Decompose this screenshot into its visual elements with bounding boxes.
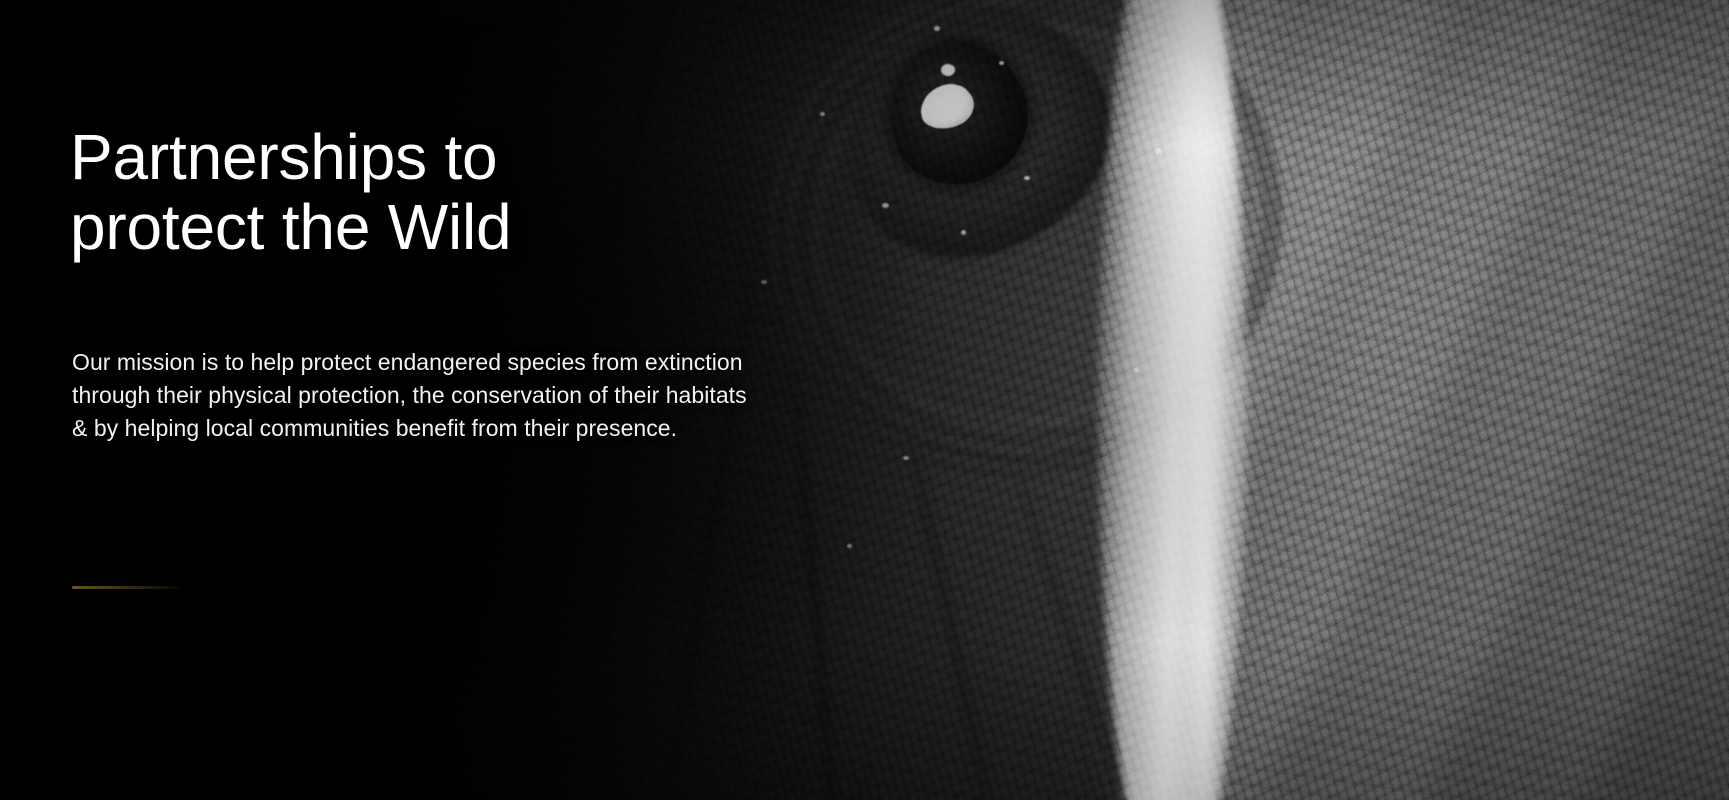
page-title: Partnerships to protect the Wild	[70, 122, 511, 262]
accent-divider	[72, 586, 180, 589]
mission-statement: Our mission is to help protect endangere…	[72, 346, 747, 445]
hero-section: Partnerships to protect the Wild Our mis…	[0, 0, 1729, 800]
hero-content: Partnerships to protect the Wild Our mis…	[70, 0, 970, 800]
